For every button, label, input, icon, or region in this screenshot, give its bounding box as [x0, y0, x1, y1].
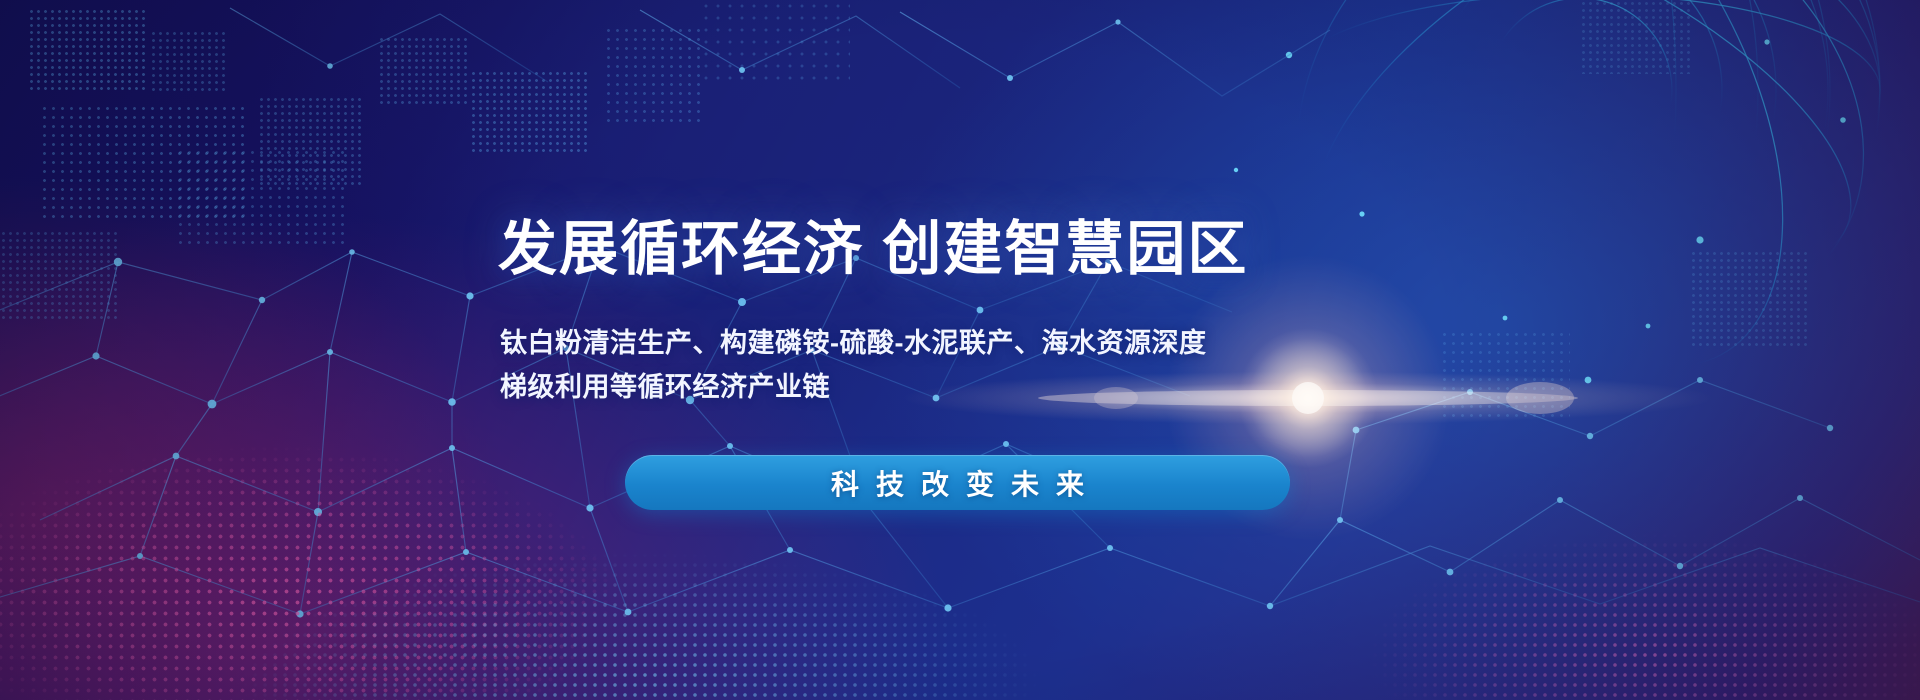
banner-content: 发展循环经济 创建智慧园区 钛白粉清洁生产、构建磷铵-硫酸-水泥联产、海水资源深…	[0, 0, 1920, 700]
subtitle-line-1: 钛白粉清洁生产、构建磷铵-硫酸-水泥联产、海水资源深度	[500, 322, 1440, 366]
hero-banner: 发展循环经济 创建智慧园区 钛白粉清洁生产、构建磷铵-硫酸-水泥联产、海水资源深…	[0, 0, 1920, 700]
cta-button-label: 科技改变未来	[814, 463, 1101, 503]
subtitle-line-2: 梯级利用等循环经济产业链	[500, 366, 1440, 410]
page-title: 发展循环经济 创建智慧园区	[498, 218, 1498, 282]
banner-subtitle: 钛白粉清洁生产、构建磷铵-硫酸-水泥联产、海水资源深度 梯级利用等循环经济产业链	[500, 322, 1440, 409]
cta-button[interactable]: 科技改变未来	[625, 455, 1290, 510]
